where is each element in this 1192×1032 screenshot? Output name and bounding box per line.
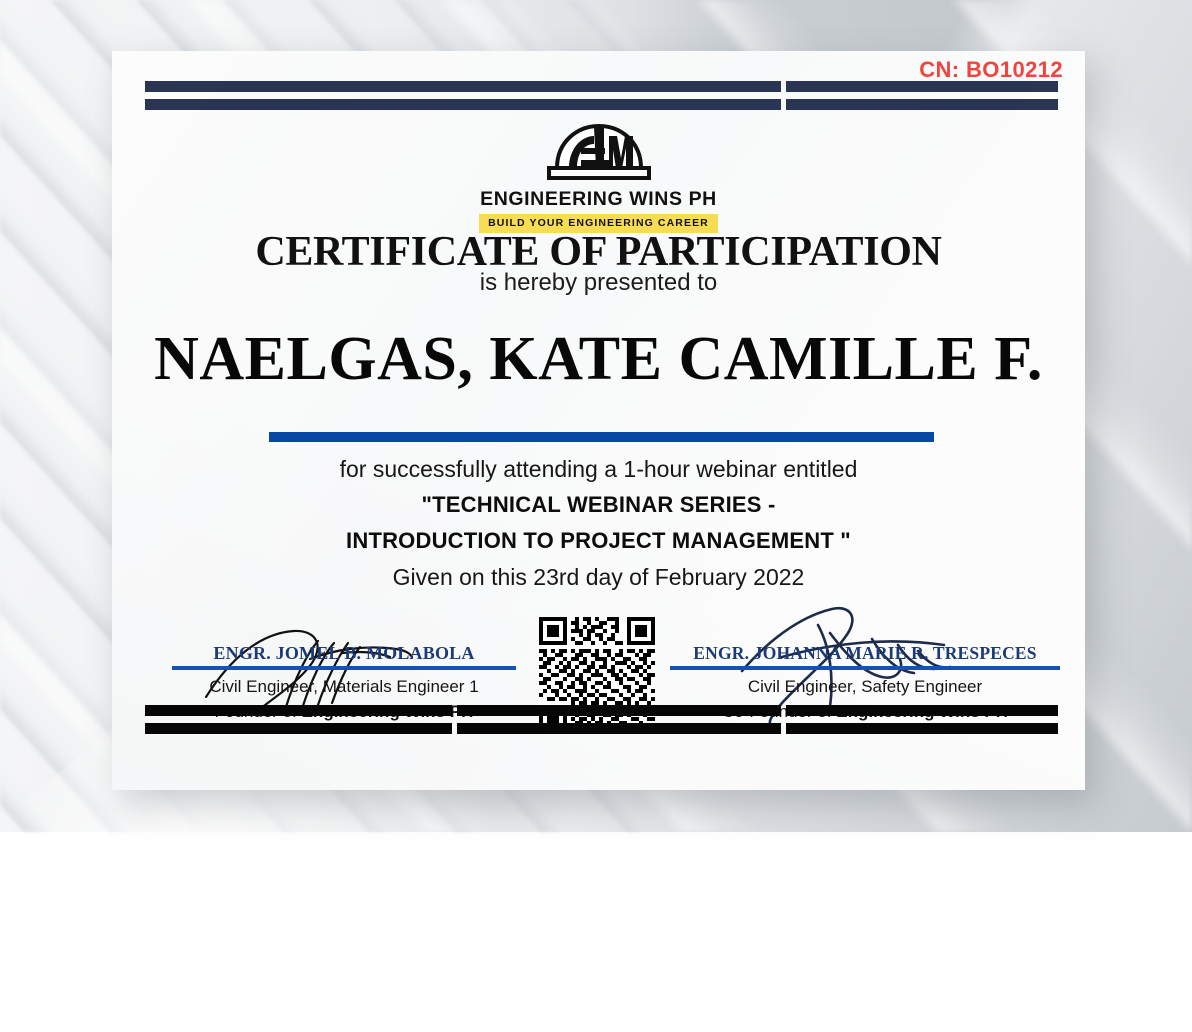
hard-hat-logo-icon (535, 114, 663, 186)
signature-rule (670, 666, 1060, 670)
signatory-name: ENGR. JOMEL B. MOLABOLA (172, 643, 516, 664)
top-rule-line-2 (145, 99, 1058, 110)
signature-rule (172, 666, 516, 670)
body-line-4: Given on this 23rd day of February 2022 (112, 559, 1085, 595)
rule-segment (145, 705, 452, 716)
signatory-name: ENGR. JOHANNA MARIE R. TRESPECES (670, 643, 1060, 664)
top-rule-line-1 (145, 81, 1058, 92)
rule-segment (786, 723, 1058, 734)
brand-name: ENGINEERING WINS PH (480, 188, 717, 211)
rule-segment (145, 81, 781, 92)
brand-logo-block: ENGINEERING WINS PH BUILD YOUR ENGINEERI… (112, 114, 1085, 233)
recipient-name: NAELGAS, KATE CAMILLE F. (112, 324, 1085, 395)
certificate-subtitle: is hereby presented to (112, 269, 1085, 297)
rule-segment (786, 81, 1058, 92)
rule-segment (145, 99, 781, 110)
certificate-body: for successfully attending a 1-hour webi… (112, 451, 1085, 595)
certificate-sheet: CN: BO10212 ENGINEERING WINS PH BUILD YO… (112, 51, 1085, 790)
rule-segment (457, 723, 781, 734)
bottom-rule-line-1 (145, 705, 1058, 716)
body-line-2: "TECHNICAL WEBINAR SERIES - (112, 487, 1085, 523)
rule-segment (786, 99, 1058, 110)
blue-divider-bar (269, 432, 934, 442)
rule-segment (457, 705, 781, 716)
control-number: CN: BO10212 (919, 57, 1063, 83)
bottom-rule-line-2 (145, 723, 1058, 734)
signatory-role: Civil Engineer, Materials Engineer 1 (172, 674, 516, 699)
rule-segment (145, 723, 452, 734)
body-line-3: INTRODUCTION TO PROJECT MANAGEMENT " (112, 523, 1085, 559)
body-line-1: for successfully attending a 1-hour webi… (112, 451, 1085, 487)
signatory-role: Civil Engineer, Safety Engineer (670, 674, 1060, 699)
rule-segment (786, 705, 1058, 716)
